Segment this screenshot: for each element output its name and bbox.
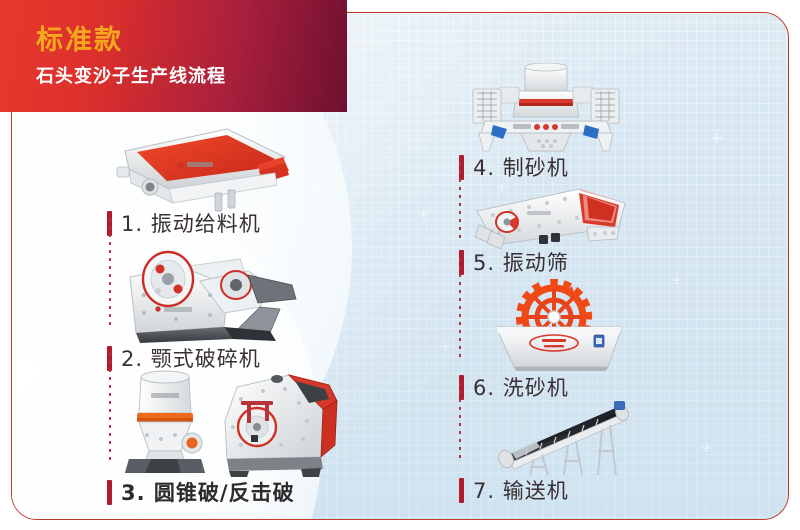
cone-impact-crusher-image	[115, 365, 343, 477]
sand-washer-image	[490, 275, 630, 371]
connector-left-2-3	[109, 353, 111, 461]
vibrating-screen-image	[467, 183, 637, 255]
vibrating-feeder-image	[107, 121, 297, 213]
left-item-1-label: 1. 振动给料机	[107, 208, 261, 238]
right-item-4-label: 4. 制砂机	[459, 152, 569, 182]
infographic-root: 1. 振动给料机	[0, 0, 800, 530]
sand-making-machine-image	[459, 63, 639, 155]
right-item-5-label: 5. 振动筛	[459, 247, 569, 277]
right-item-4-text: 4. 制砂机	[473, 152, 569, 182]
right-item-6-text: 6. 洗砂机	[473, 372, 569, 402]
banner-title: 标准款	[36, 18, 123, 57]
right-item-5-text: 5. 振动筛	[473, 247, 569, 277]
right-item-6-label: 6. 洗砂机	[459, 372, 569, 402]
left-item-1-text: 1. 振动给料机	[121, 208, 261, 238]
left-item-3-label: 3. 圆锥破/反击破	[107, 477, 295, 507]
jaw-crusher-image	[120, 241, 306, 345]
connector-right-5-6	[459, 258, 461, 358]
left-item-3-text: 3. 圆锥破/反击破	[121, 477, 295, 507]
connector-right-4-5	[459, 163, 461, 241]
connector-left-1-2	[109, 218, 111, 328]
banner-subtitle: 石头变沙子生产线流程	[36, 62, 226, 88]
right-item-7-text: 7. 输送机	[473, 475, 569, 505]
belt-conveyor-image	[490, 401, 638, 475]
right-item-7-label: 7. 输送机	[459, 475, 569, 505]
header-banner: 标准款 石头变沙子生产线流程	[0, 0, 347, 112]
marker-bar	[459, 478, 464, 503]
marker-bar	[107, 480, 112, 505]
connector-right-6-7	[459, 383, 461, 461]
